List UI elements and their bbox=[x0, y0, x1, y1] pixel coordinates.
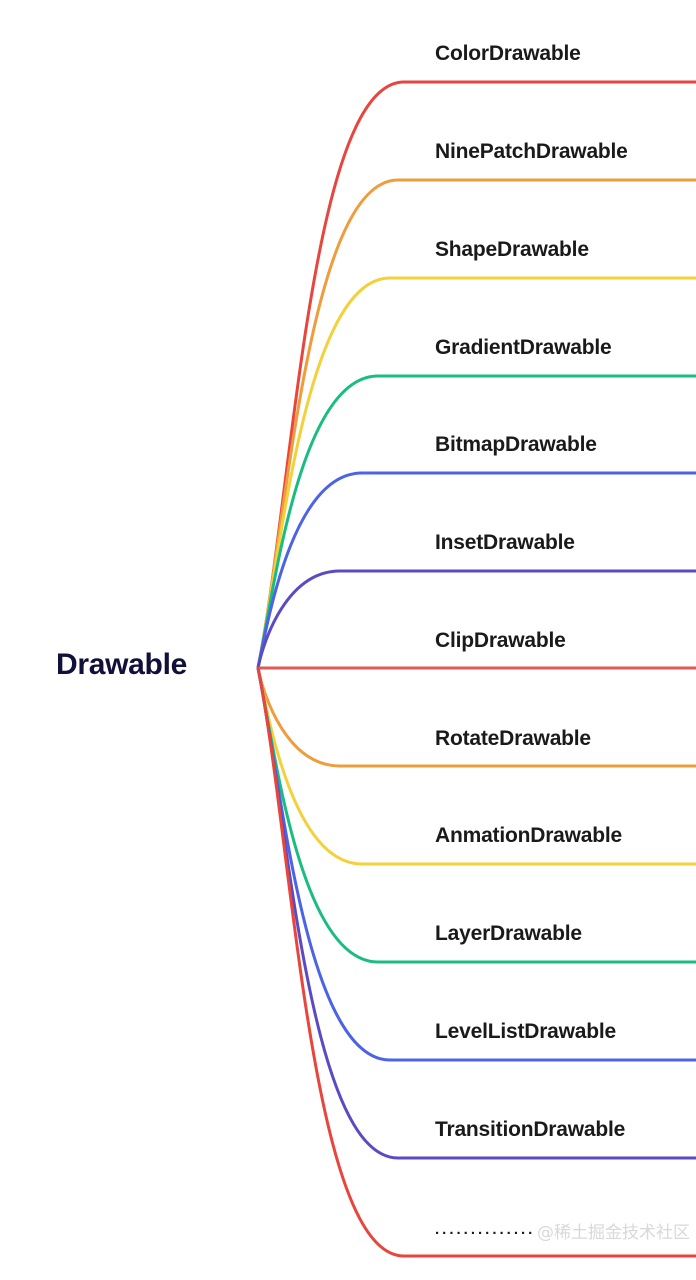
node-label-rotatedrawable: RotateDrawable bbox=[435, 727, 591, 751]
root-node-drawable: Drawable bbox=[56, 648, 187, 682]
node-label-clipdrawable: ClipDrawable bbox=[435, 629, 566, 653]
watermark: @稀土掘金技术社区 bbox=[537, 1218, 690, 1243]
node-label-gradientdrawable: GradientDrawable bbox=[435, 336, 612, 360]
branch-lines-svg bbox=[0, 0, 696, 1280]
branch-line-rotatedrawable bbox=[258, 668, 696, 766]
node-label-layerdrawable: LayerDrawable bbox=[435, 922, 582, 946]
drawable-hierarchy-diagram: Drawable ColorDrawable NinePatchDrawable… bbox=[0, 0, 696, 1280]
branch-line-layerdrawable bbox=[258, 668, 696, 962]
node-label-colordrawable: ColorDrawable bbox=[435, 42, 581, 66]
node-label-bitmapdrawable: BitmapDrawable bbox=[435, 433, 597, 457]
node-label-shapedrawable: ShapeDrawable bbox=[435, 238, 589, 262]
node-label-ellipsis: .............. bbox=[435, 1221, 535, 1238]
node-label-insetdrawable: InsetDrawable bbox=[435, 531, 575, 555]
node-label-levellistdrawable: LevelListDrawable bbox=[435, 1020, 616, 1044]
branch-line-gradientdrawable bbox=[258, 376, 696, 668]
node-label-ninepatchdrawable: NinePatchDrawable bbox=[435, 140, 628, 164]
branch-line-insetdrawable bbox=[258, 571, 696, 668]
node-label-anmationdrawable: AnmationDrawable bbox=[435, 824, 622, 848]
node-label-transitiondrawable: TransitionDrawable bbox=[435, 1118, 625, 1142]
